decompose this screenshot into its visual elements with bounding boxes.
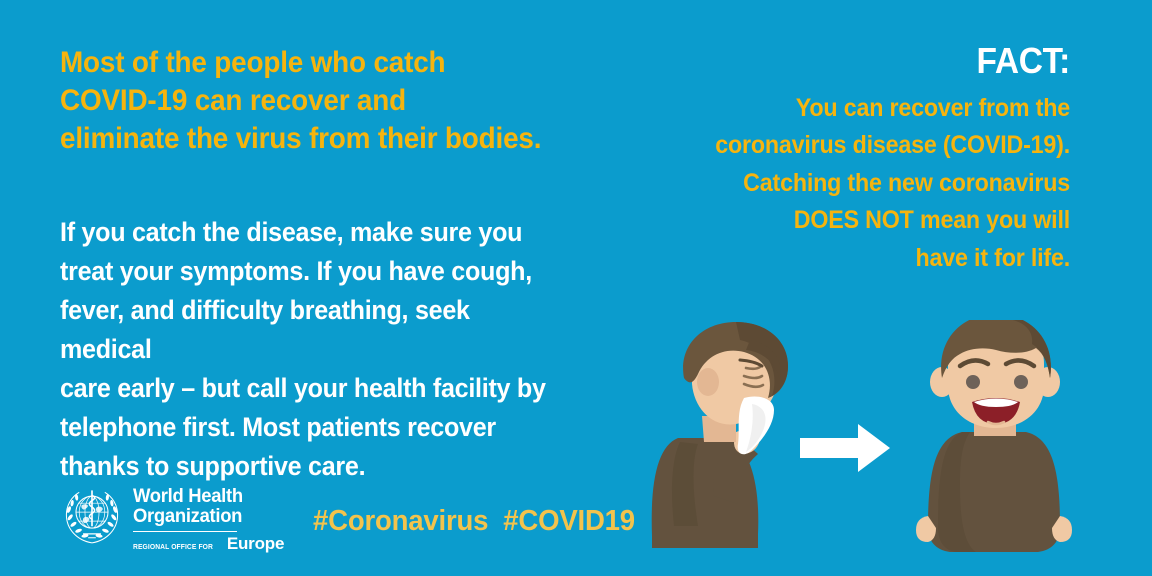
fact-statement: You can recover from the coronavirus dis…: [679, 80, 1070, 278]
who-logo: World Health Organization REGIONAL OFFIC…: [60, 484, 284, 554]
who-wordmark: World Health Organization REGIONAL OFFIC…: [133, 484, 284, 554]
fact-block: FACT: You can recover from the coronavir…: [650, 42, 1070, 277]
hashtags: #Coronavirus #COVID19: [313, 505, 635, 538]
who-region-name: Europe: [227, 534, 284, 554]
illustration-group: [640, 320, 1110, 576]
right-arrow-icon: [800, 424, 890, 472]
recovery-illustration: [640, 320, 1110, 576]
who-region-line: REGIONAL OFFICE FOR Europe: [133, 534, 284, 554]
sick-person-figure: [652, 322, 788, 548]
who-organization-name: World Health Organization: [133, 487, 280, 528]
left-text-column: Most of the people who catch COVID-19 ca…: [60, 44, 600, 486]
fact-label: FACT:: [679, 42, 1070, 80]
who-regional-prefix: REGIONAL OFFICE FOR: [133, 542, 213, 551]
headline-text: Most of the people who catch COVID-19 ca…: [60, 44, 562, 157]
body-paragraph: If you catch the disease, make sure you …: [60, 157, 562, 485]
healthy-person-figure: [916, 320, 1072, 552]
who-emblem-icon: [60, 484, 124, 548]
who-divider-rule: [133, 531, 237, 533]
who-covid-fact-poster: Most of the people who catch COVID-19 ca…: [0, 0, 1152, 576]
